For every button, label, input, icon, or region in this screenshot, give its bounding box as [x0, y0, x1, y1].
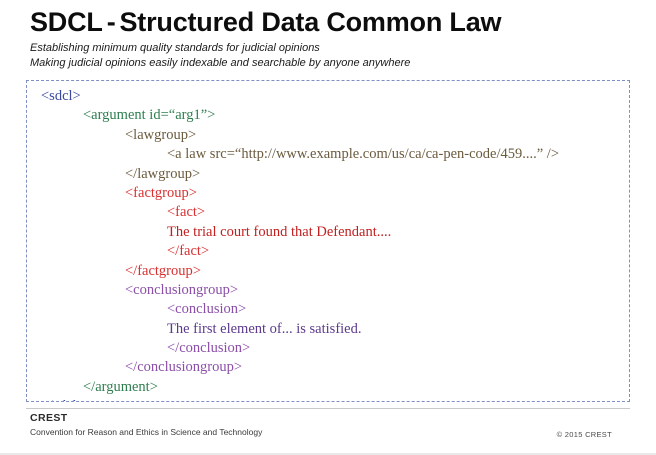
title-acronym: SDCL: [30, 7, 103, 37]
code-line: <conclusion>: [27, 300, 629, 319]
title-expansion: Structured Data Common Law: [120, 7, 502, 37]
code-line: </sdcl>: [27, 397, 629, 402]
footer-copyright: © 2015 CREST: [557, 430, 612, 440]
footer-tagline: Convention for Reason and Ethics in Scie…: [30, 426, 630, 438]
code-line: <argument id=“arg1”>: [27, 106, 629, 125]
code-line: The trial court found that Defendant....: [27, 223, 629, 242]
slide-header: SDCL-Structured Data Common Law Establis…: [0, 0, 656, 70]
code-line: </lawgroup>: [27, 165, 629, 184]
subtitle-block: Establishing minimum quality standards f…: [30, 41, 656, 70]
code-line: <lawgroup>: [27, 126, 629, 145]
code-line: </conclusion>: [27, 339, 629, 358]
code-line: <a law src=“http://www.example.com/us/ca…: [27, 145, 629, 164]
subtitle-line-2: Making judicial opinions easily indexabl…: [30, 56, 656, 71]
code-line: <fact>: [27, 203, 629, 222]
code-line: </factgroup>: [27, 262, 629, 281]
code-line: The first element of... is satisfied.: [27, 320, 629, 339]
code-line: <conclusiongroup>: [27, 281, 629, 300]
xml-code-box: <sdcl><argument id=“arg1”><lawgroup><a l…: [26, 80, 630, 402]
slide-footer: CREST Convention for Reason and Ethics i…: [30, 412, 630, 438]
code-line: </fact>: [27, 242, 629, 261]
xml-code-lines: <sdcl><argument id=“arg1”><lawgroup><a l…: [27, 81, 629, 402]
page-title: SDCL-Structured Data Common Law: [30, 6, 656, 38]
slide: SDCL-Structured Data Common Law Establis…: [0, 0, 656, 455]
footer-divider: [26, 408, 630, 409]
subtitle-line-1: Establishing minimum quality standards f…: [30, 41, 656, 56]
title-dash: -: [103, 7, 120, 37]
code-line: </argument>: [27, 378, 629, 397]
footer-brand: CREST: [30, 412, 630, 425]
code-line: <sdcl>: [27, 87, 629, 106]
code-line: <factgroup>: [27, 184, 629, 203]
code-line: </conclusiongroup>: [27, 358, 629, 377]
